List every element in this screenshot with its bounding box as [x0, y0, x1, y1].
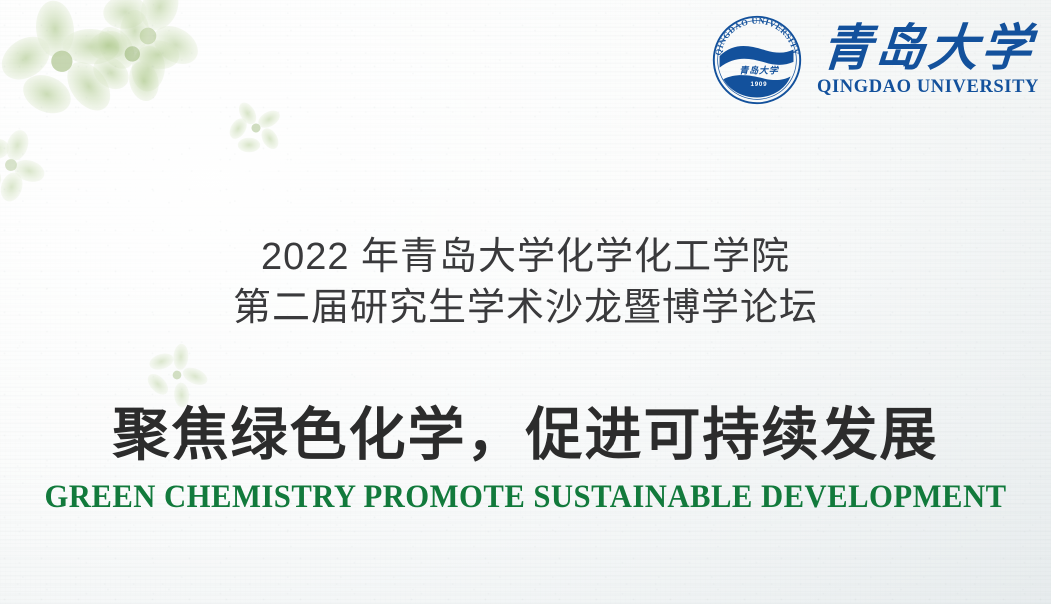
flower-large-upper-icon	[80, 0, 215, 104]
seal-inner-cn: 青岛大学	[739, 65, 779, 75]
flower-medium-right-icon	[218, 90, 294, 166]
university-wordmark: 青岛大学 QINGDAO UNIVERSITY	[817, 23, 1039, 97]
wordmark-english: QINGDAO UNIVERSITY	[817, 78, 1039, 97]
poster-canvas: QINGDAO UNIVERSITY 青岛大学 1909 青岛大学 QINGDA…	[0, 0, 1051, 604]
seal-year: 1909	[750, 81, 767, 88]
flower-small-center-icon	[140, 338, 214, 412]
main-title-english: GREEN CHEMISTRY PROMOTE SUSTAINABLE DEVE…	[37, 481, 1014, 514]
qingdao-university-seal-icon: QINGDAO UNIVERSITY 青岛大学 1909	[709, 12, 805, 108]
flower-medium-top-icon	[81, 3, 187, 109]
wordmark-chinese: 青岛大学	[820, 23, 1036, 74]
university-logo: QINGDAO UNIVERSITY 青岛大学 1909 青岛大学 QINGDA…	[709, 12, 1039, 108]
event-heading-line-2: 第二届研究生学术沙龙暨博学论坛	[0, 283, 1051, 334]
event-heading: 2022 年青岛大学化学化工学院 第二届研究生学术沙龙暨博学论坛	[0, 232, 1051, 335]
main-title-chinese: 聚焦绿色化学，促进可持续发展	[0, 404, 1051, 468]
flower-large-left-icon	[0, 0, 135, 133]
flower-edge-left-icon	[0, 118, 58, 211]
event-heading-line-1: 2022 年青岛大学化学化工学院	[0, 232, 1051, 283]
